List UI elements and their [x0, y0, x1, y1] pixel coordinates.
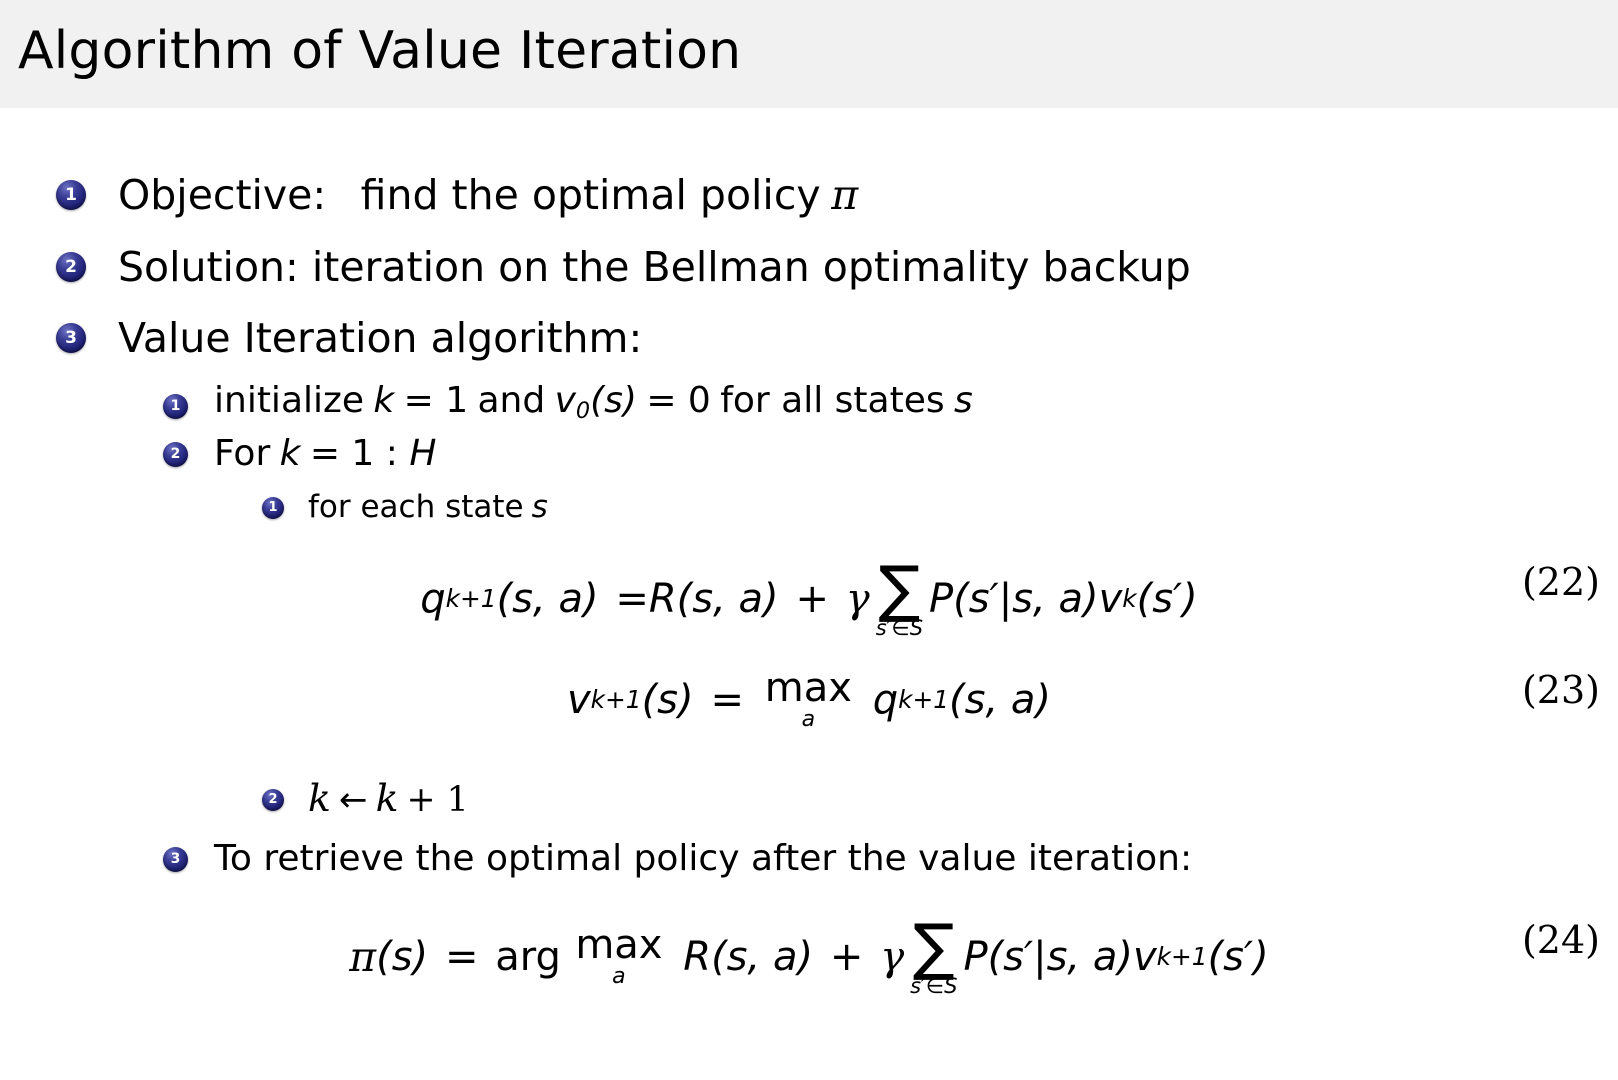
and-word: and — [478, 380, 546, 421]
slide-body: 1 Objective:find the optimal policyπ 2 S… — [0, 108, 1618, 1080]
eq24-R-args: (s, a) — [711, 934, 813, 980]
eq24-gamma: γ — [880, 934, 904, 980]
eq22-v-close: ) — [1182, 576, 1198, 622]
eq24-max-operator: max a — [575, 925, 662, 988]
sigma-icon: ∑ — [878, 562, 920, 615]
eq24-P-open: ( — [988, 934, 1004, 980]
eq22-P-open: ( — [953, 576, 969, 622]
eq23-v-args: (s) — [642, 677, 694, 723]
eq23-max-name: max — [765, 668, 852, 708]
equation-22-number: (22) — [1522, 560, 1600, 604]
eq22-P: P — [929, 576, 953, 622]
math-eq-1: = 1 — [404, 380, 469, 421]
equation-22: qk+1(s, a)=R(s, a)+γ ∑ s′∈S P(s′|s, a)vk… — [0, 560, 1618, 637]
list-item-label: Objective:find the optimal policyπ — [118, 171, 858, 219]
eq24-pi: π — [349, 933, 376, 981]
for-all-states-word: for all states — [720, 380, 944, 421]
eq24-P-rest: s, a) — [1047, 934, 1133, 980]
eq24-max-name: max — [575, 925, 662, 965]
eq22-R: R — [649, 576, 677, 622]
list-item-label: Fork= 1 : H — [214, 433, 436, 475]
list-item-for-each-state: 1 for each states — [262, 489, 548, 526]
math-v: v — [555, 380, 576, 421]
math-k-right: k — [376, 776, 399, 820]
eq22-s-prime: s′ — [969, 576, 999, 622]
list-item-label: k←k+ 1 — [308, 780, 469, 820]
page-title: Algorithm of Value Iteration — [18, 18, 741, 84]
pi-symbol: π — [831, 171, 858, 219]
sigma-icon: ∑ — [913, 920, 955, 973]
left-arrow-icon: ← — [339, 780, 368, 820]
eq24-P: P — [963, 934, 987, 980]
eq23-v-subscript: k+1 — [591, 685, 642, 714]
initialize-word: initialize — [214, 380, 364, 421]
equation-24-number: (24) — [1522, 918, 1600, 962]
eq22-v-open: ( — [1137, 576, 1153, 622]
eq24-arg: arg — [495, 934, 561, 980]
eq22-q-subscript: k+1 — [446, 584, 497, 613]
eq23-equals: = — [710, 677, 744, 723]
list-item-label: Value Iteration algorithm: — [118, 314, 642, 362]
eq22-v-s-prime: s′ — [1152, 576, 1182, 622]
equation-22-body: qk+1(s, a)=R(s, a)+γ ∑ s′∈S P(s′|s, a)vk… — [420, 560, 1198, 637]
eq24-sum-limit: s′∈S — [910, 976, 957, 997]
list-item-for-loop: 2 Fork= 1 : H — [163, 433, 436, 475]
eq24-R: R — [683, 934, 711, 980]
eq24-v-close: ) — [1253, 934, 1269, 980]
eq24-given-bar: | — [1033, 934, 1046, 980]
objective-prefix: Objective: — [118, 171, 326, 219]
math-plus-one: + 1 — [407, 780, 469, 820]
eq22-q-args: (s, a) — [497, 576, 599, 622]
list-item-label: To retrieve the optimal policy after the… — [214, 838, 1192, 880]
list-item-solution: 2 Solution: iteration on the Bellman opt… — [56, 243, 1191, 291]
eq24-v-subscript: k+1 — [1157, 942, 1208, 971]
eq24-v-open: ( — [1208, 934, 1224, 980]
math-v-subscript: 0 — [576, 398, 590, 424]
list-item-objective: 1 Objective:find the optimal policyπ — [56, 171, 858, 219]
math-k: k — [373, 380, 394, 421]
list-item-value-iteration-algorithm: 3 Value Iteration algorithm: — [56, 314, 642, 362]
eq22-v: v — [1099, 576, 1123, 622]
eq23-max-operator: max a — [765, 668, 852, 731]
equation-23: vk+1(s)= max a qk+1(s, a) (23) — [0, 668, 1618, 731]
bullet-number-icon: 1 — [56, 180, 86, 210]
math-range: = 1 : — [310, 433, 410, 474]
slide-header-band: Algorithm of Value Iteration — [0, 0, 1618, 108]
eq22-gamma: γ — [846, 576, 870, 622]
eq22-equals: = — [615, 576, 649, 622]
math-s: s — [532, 489, 548, 525]
eq23-max-limit: a — [802, 709, 815, 731]
bullet-number-icon: 1 — [163, 394, 188, 419]
list-item-increment-k: 2 k←k+ 1 — [262, 780, 469, 820]
eq24-equals: = — [445, 934, 479, 980]
eq23-q-args: (s, a) — [949, 677, 1051, 723]
bullet-number-icon: 3 — [163, 847, 188, 872]
bullet-number-icon: 1 — [262, 497, 284, 519]
math-eq-0: = 0 — [646, 380, 711, 421]
eq23-v: v — [567, 677, 591, 723]
equation-24: π(s)=arg max a R(s, a)+γ ∑ s′∈S P(s′|s, … — [0, 918, 1618, 995]
bullet-number-icon: 2 — [262, 789, 284, 811]
for-each-state-words: for each state — [308, 489, 524, 525]
eq24-v-s-prime: s′ — [1223, 934, 1253, 980]
equation-23-body: vk+1(s)= max a qk+1(s, a) — [567, 668, 1051, 731]
math-H: H — [409, 433, 436, 474]
eq22-v-subscript: k — [1122, 584, 1136, 613]
eq24-max-limit: a — [612, 966, 625, 988]
eq23-q: q — [873, 677, 898, 723]
list-item-label: initializek= 1andv0(s)= 0for all statess — [214, 380, 973, 432]
bullet-number-icon: 2 — [163, 442, 188, 467]
eq24-v: v — [1133, 934, 1157, 980]
list-item-label: Solution: iteration on the Bellman optim… — [118, 243, 1191, 291]
bullet-number-icon: 3 — [56, 323, 86, 353]
eq22-sum-limit: s′∈S — [876, 618, 923, 639]
math-s: s — [954, 380, 973, 421]
equation-23-number: (23) — [1522, 668, 1600, 712]
eq24-s-prime: s′ — [1003, 934, 1033, 980]
eq22-summation: ∑ s′∈S — [876, 562, 923, 639]
bullet-number-icon: 2 — [56, 252, 86, 282]
eq22-given-bar: | — [999, 576, 1012, 622]
eq24-plus: + — [830, 934, 864, 980]
list-item-initialize: 1 initializek= 1andv0(s)= 0for all state… — [163, 380, 973, 432]
eq22-q: q — [420, 576, 445, 622]
math-v-args: (s) — [590, 380, 637, 421]
math-k-left: k — [308, 776, 331, 820]
list-item-label: for each states — [308, 489, 548, 526]
eq24-summation: ∑ s′∈S — [910, 920, 957, 997]
eq22-R-args: (s, a) — [677, 576, 779, 622]
objective-body: find the optimal policy — [361, 171, 821, 219]
eq22-plus: + — [795, 576, 829, 622]
list-item-retrieve-policy: 3 To retrieve the optimal policy after t… — [163, 838, 1192, 880]
equation-24-body: π(s)=arg max a R(s, a)+γ ∑ s′∈S P(s′|s, … — [349, 918, 1268, 995]
math-k: k — [280, 433, 301, 474]
eq22-P-rest: s, a) — [1012, 576, 1098, 622]
for-word: For — [214, 433, 270, 474]
eq24-pi-args: (s) — [376, 934, 428, 980]
eq23-q-subscript: k+1 — [898, 685, 949, 714]
